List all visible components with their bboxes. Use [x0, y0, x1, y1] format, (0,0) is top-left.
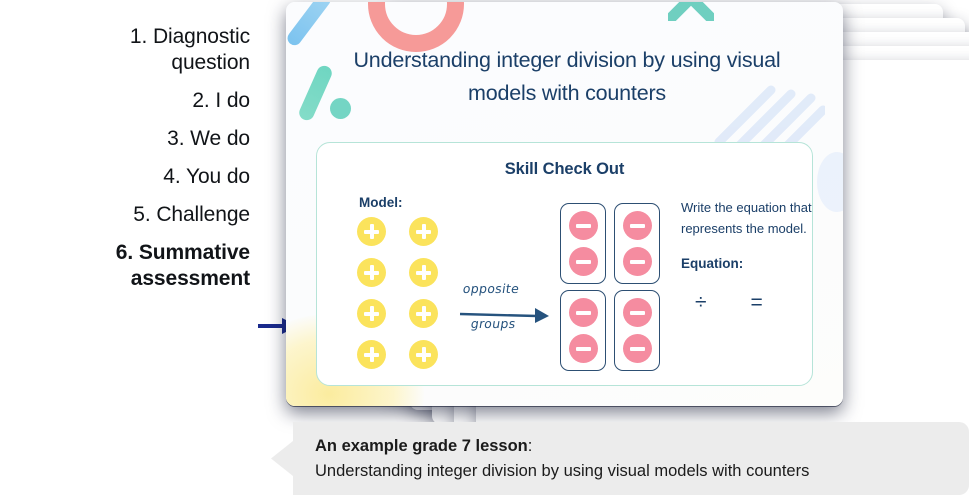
step-label-line2: question [0, 50, 250, 76]
caption-label: An example grade 7 lesson [315, 437, 528, 455]
negative-counter [569, 247, 598, 276]
lesson-steps-list: 1. Diagnostic question 2. I do 3. We do … [0, 18, 258, 298]
sidebar-item-summative-assessment[interactable]: 6. Summative assessment [0, 234, 258, 298]
arrow-label-top: opposite [462, 281, 521, 296]
blue-bar-icon [286, 2, 333, 48]
prompt-area: Write the equation that represents the m… [681, 197, 813, 315]
caption-colon: : [528, 437, 533, 455]
slide-stack: Understanding integer division by using … [286, 0, 966, 415]
card-title: Skill Check Out [317, 160, 812, 179]
step-label-line1: 1. Diagnostic [0, 24, 250, 50]
sidebar-item-we-do[interactable]: 3. We do [0, 120, 258, 158]
equals-symbol: = [751, 291, 763, 315]
opposite-groups-annotation: opposite groups [459, 285, 551, 357]
lesson-overview-figure: 1. Diagnostic question 2. I do 3. We do … [0, 0, 969, 495]
step-label-line1: 2. I do [0, 88, 250, 114]
negative-counter [623, 247, 652, 276]
slide-title: Understanding integer division by using … [342, 44, 792, 110]
skill-check-card: Skill Check Out Model: oppos [316, 142, 813, 386]
negative-group [614, 290, 660, 371]
sidebar-item-you-do[interactable]: 4. You do [0, 158, 258, 196]
divide-symbol: ÷ [695, 291, 707, 315]
sidebar-item-challenge[interactable]: 5. Challenge [0, 196, 258, 234]
negative-counter [569, 211, 598, 240]
negative-group [560, 290, 606, 371]
sidebar-item-diagnostic-question[interactable]: 1. Diagnostic question [0, 18, 258, 82]
equation-label: Equation: [681, 256, 813, 271]
caption-callout: An example grade 7 lesson: Understanding… [271, 422, 969, 495]
sidebar-item-i-do[interactable]: 2. I do [0, 82, 258, 120]
negative-counter-groups [560, 203, 660, 371]
caption-text: Understanding integer division by using … [315, 458, 953, 484]
active-slide[interactable]: Understanding integer division by using … [286, 2, 843, 406]
step-label-line2: assessment [0, 266, 250, 292]
negative-counter [623, 298, 652, 327]
negative-group [614, 203, 660, 284]
positive-counter [357, 258, 386, 287]
caption-label-line: An example grade 7 lesson: [315, 434, 953, 458]
positive-counter [357, 217, 386, 246]
arrow-label-bottom: groups [470, 316, 517, 331]
blue-blob-icon [817, 152, 843, 212]
negative-counter [569, 298, 598, 327]
positive-counter [409, 258, 438, 287]
step-label-line1: 3. We do [0, 126, 250, 152]
positive-counter [357, 299, 386, 328]
model-label: Model: [359, 195, 403, 210]
positive-counter [409, 217, 438, 246]
positive-counters-grid [357, 217, 449, 369]
card-body: Model: opposite [317, 179, 812, 379]
negative-group [560, 203, 606, 284]
step-label-line1: 5. Challenge [0, 202, 250, 228]
positive-counter [409, 340, 438, 369]
positive-counter [357, 340, 386, 369]
negative-counter [623, 211, 652, 240]
equation-row: ÷ = [681, 291, 813, 315]
positive-counter [409, 299, 438, 328]
teal-chevron-icon [668, 2, 714, 21]
prompt-text: Write the equation that represents the m… [681, 197, 813, 239]
step-label-line1: 6. Summative [0, 240, 250, 266]
step-label-line1: 4. You do [0, 164, 250, 190]
teal-slash-icon [297, 63, 334, 122]
negative-counter [569, 334, 598, 363]
negative-counter [623, 334, 652, 363]
